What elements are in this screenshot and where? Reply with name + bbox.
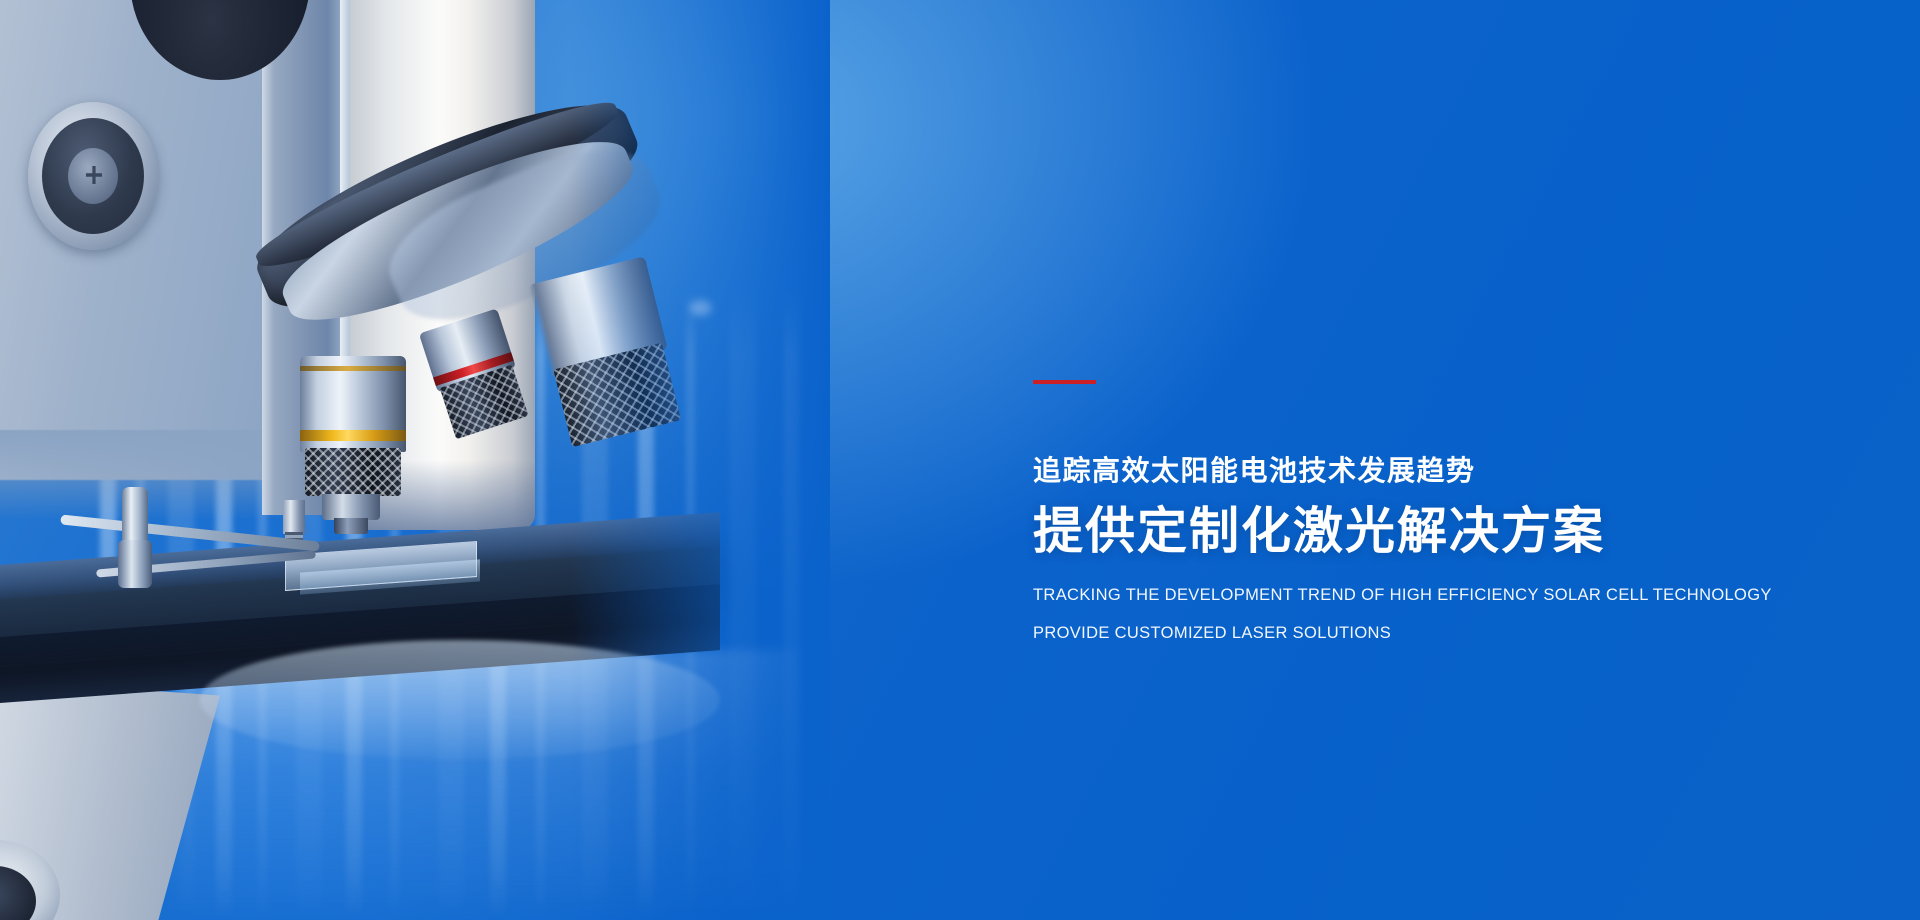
objective-tip	[322, 494, 380, 520]
objective-upper-band	[300, 366, 406, 371]
hero-subtitle-en-line1: TRACKING THE DEVELOPMENT TREND OF HIGH E…	[1033, 587, 1833, 604]
adjustment-disc-inner	[42, 118, 144, 234]
hero-banner: 追踪高效太阳能电池技术发展趋势 提供定制化激光解决方案 TRACKING THE…	[0, 0, 1920, 920]
stage-knob-lower	[118, 540, 152, 588]
stage-knob-upper	[122, 487, 148, 547]
hero-subtitle-cn: 追踪高效太阳能电池技术发展趋势	[1033, 456, 1833, 487]
bokeh-dot	[690, 300, 712, 316]
objective-knurling	[305, 448, 401, 496]
adjustment-disc	[28, 102, 158, 250]
objective-lens-front	[300, 356, 406, 506]
objective-yellow-band	[300, 430, 406, 441]
microscope-photo	[0, 0, 830, 920]
hero-subtitle-en-line2: PROVIDE CUSTOMIZED LASER SOLUTIONS	[1033, 625, 1833, 642]
stage-reflection-arc	[200, 640, 720, 760]
screw-head-icon	[68, 148, 118, 204]
hero-title-cn: 提供定制化激光解决方案	[1033, 503, 1833, 559]
hero-content: 追踪高效太阳能电池技术发展趋势 提供定制化激光解决方案 TRACKING THE…	[1033, 380, 1833, 642]
red-accent-rule	[1033, 380, 1096, 384]
objective-aperture	[334, 518, 368, 534]
